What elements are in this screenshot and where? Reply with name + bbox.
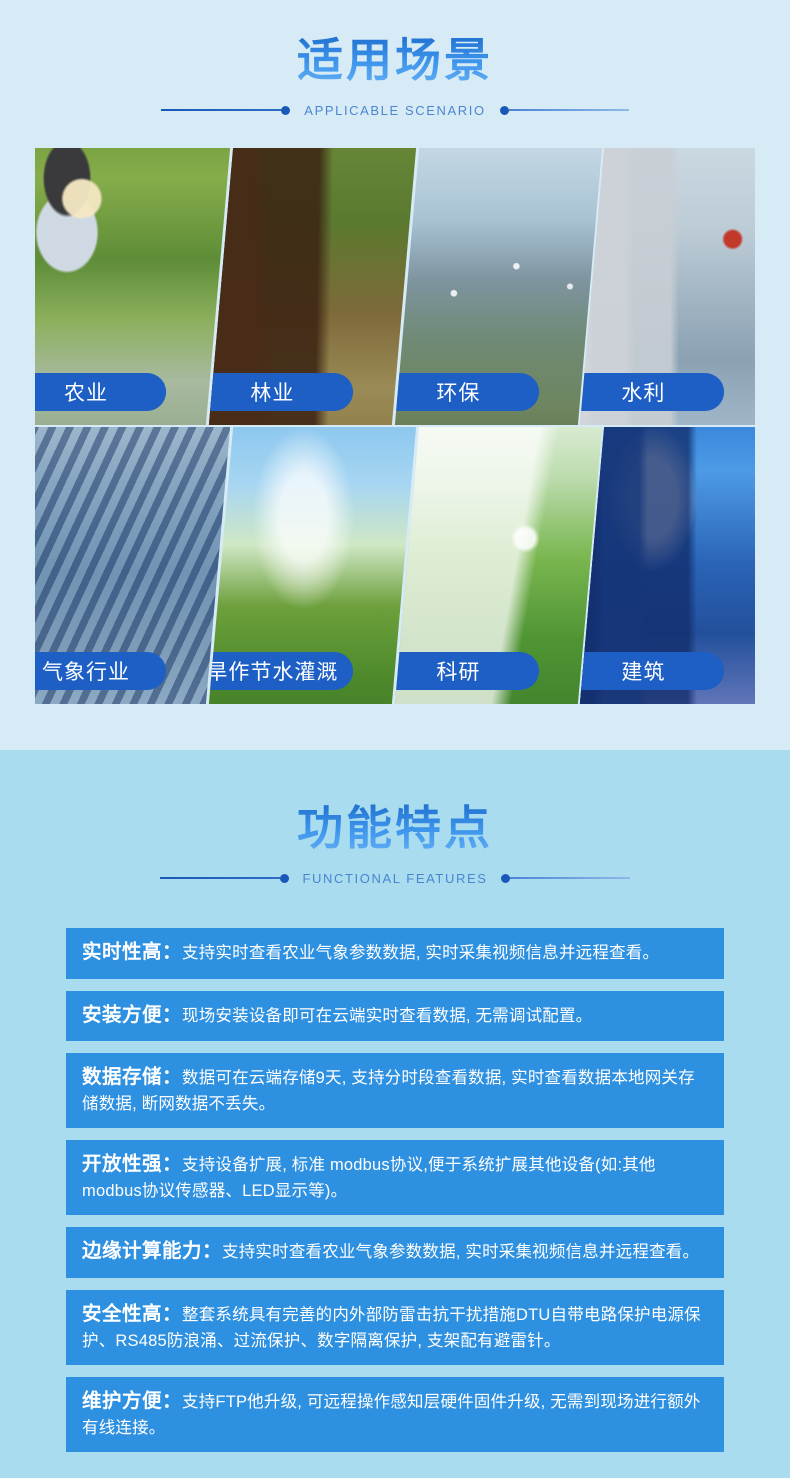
feature-card-body: 支持实时查看农业气象参数数据, 实时采集视频信息并远程查看。 [222, 1243, 699, 1261]
decor-line-right [500, 106, 629, 115]
scenario-tile-label-text: 旱作节水灌溉 [209, 656, 338, 686]
scenario-tile-agriculture[interactable]: 农业 [35, 148, 230, 425]
feature-card-body: 现场安装设备即可在云端实时查看数据, 无需调试配置。 [182, 1007, 592, 1025]
scenario-section-header: 适用场景 APPLICABLE SCENARIO [0, 34, 790, 118]
decor-dot-right [501, 874, 510, 883]
feature-card-title: 维护方便： [82, 1390, 182, 1412]
decor-line-right-bar [510, 877, 630, 879]
feature-card-realtime: 实时性高：支持实时查看农业气象参数数据, 实时采集视频信息并远程查看。 [66, 928, 724, 979]
scenario-tile-grid: 农业 林业 环保 水利 [35, 148, 755, 704]
scenario-title-en: APPLICABLE SCENARIO [304, 103, 485, 118]
scenario-tile-label: 建筑 [581, 652, 724, 690]
scenario-tile-label: 科研 [396, 652, 539, 690]
product-detail-page: 适用场景 APPLICABLE SCENARIO 农业 [0, 0, 790, 1478]
features-title-cn: 功能特点 [0, 802, 790, 855]
features-title-en: FUNCTIONAL FEATURES [303, 871, 488, 886]
feature-card-title: 数据存储： [82, 1066, 182, 1088]
feature-card-title: 安装方便： [82, 1004, 182, 1026]
section-functional-features: 功能特点 FUNCTIONAL FEATURES 实时性高：支持实时查看农业气象… [0, 750, 790, 1478]
decor-line-left [161, 106, 290, 115]
scenario-tile-label: 环保 [396, 373, 539, 411]
scenario-tile-construction[interactable]: 建筑 [580, 427, 755, 704]
decor-line-right-bar [509, 109, 629, 111]
scenario-subtitle-row: APPLICABLE SCENARIO [0, 103, 790, 118]
scenario-tile-label-text: 建筑 [622, 656, 666, 686]
scenario-tile-label: 水利 [581, 373, 724, 411]
features-subtitle-row: FUNCTIONAL FEATURES [0, 871, 790, 886]
scenario-tile-label-text: 水利 [622, 377, 666, 407]
decor-line-left [160, 874, 289, 883]
feature-card-openness: 开放性强：支持设备扩展, 标准 modbus协议,便于系统扩展其他设备(如:其他… [66, 1140, 724, 1215]
scenario-tile-environment[interactable]: 环保 [394, 148, 601, 425]
feature-card-title: 安全性高： [82, 1303, 182, 1325]
feature-card-body: 支持实时查看农业气象参数数据, 实时采集视频信息并远程查看。 [182, 944, 659, 962]
scenario-tile-label: 气象行业 [35, 652, 166, 690]
scenario-tile-research[interactable]: 科研 [394, 427, 601, 704]
section-applicable-scenario: 适用场景 APPLICABLE SCENARIO 农业 [0, 0, 790, 750]
decor-dot-left [280, 874, 289, 883]
scenario-tile-label-text: 气象行业 [42, 656, 130, 686]
feature-card-title: 实时性高： [82, 941, 182, 963]
scenario-tile-row-2: 气象行业 旱作节水灌溉 科研 [35, 427, 755, 704]
feature-card-edge-computing: 边缘计算能力：支持实时查看农业气象参数数据, 实时采集视频信息并远程查看。 [66, 1227, 724, 1278]
scenario-tile-label: 农业 [35, 373, 166, 411]
scenario-title-cn: 适用场景 [0, 34, 790, 87]
feature-card-safety: 安全性高：整套系统具有完善的内外部防雷击抗干扰措施DTU自带电路保护电源保护、R… [66, 1290, 724, 1365]
decor-line-right [501, 874, 630, 883]
decor-dot-left [281, 106, 290, 115]
feature-card-maintenance: 维护方便：支持FTP他升级, 可远程操作感知层硬件固件升级, 无需到现场进行额外… [66, 1377, 724, 1452]
feature-card-list: 实时性高：支持实时查看农业气象参数数据, 实时采集视频信息并远程查看。 安装方便… [66, 928, 724, 1453]
scenario-tile-label-text: 环保 [436, 377, 480, 407]
decor-line-left-bar [160, 877, 280, 879]
scenario-tile-water-conservancy[interactable]: 水利 [580, 148, 755, 425]
decor-line-left-bar [161, 109, 281, 111]
scenario-tile-dry-farming-irrigation[interactable]: 旱作节水灌溉 [209, 427, 416, 704]
scenario-tile-label-text: 科研 [436, 656, 480, 686]
decor-dot-right [500, 106, 509, 115]
scenario-tile-label: 林业 [210, 373, 353, 411]
scenario-tile-forestry[interactable]: 林业 [209, 148, 416, 425]
feature-card-title: 边缘计算能力： [82, 1240, 222, 1262]
scenario-tile-label-text: 林业 [250, 377, 294, 407]
scenario-tile-meteorology[interactable]: 气象行业 [35, 427, 230, 704]
scenario-tile-label-text: 农业 [64, 377, 108, 407]
feature-card-title: 开放性强： [82, 1153, 182, 1175]
scenario-tile-label: 旱作节水灌溉 [210, 652, 353, 690]
feature-card-data-storage: 数据存储：数据可在云端存储9天, 支持分时段查看数据, 实时查看数据本地网关存储… [66, 1053, 724, 1128]
feature-card-easy-install: 安装方便：现场安装设备即可在云端实时查看数据, 无需调试配置。 [66, 991, 724, 1042]
features-section-header: 功能特点 FUNCTIONAL FEATURES [0, 802, 790, 886]
scenario-tile-row-1: 农业 林业 环保 水利 [35, 148, 755, 425]
